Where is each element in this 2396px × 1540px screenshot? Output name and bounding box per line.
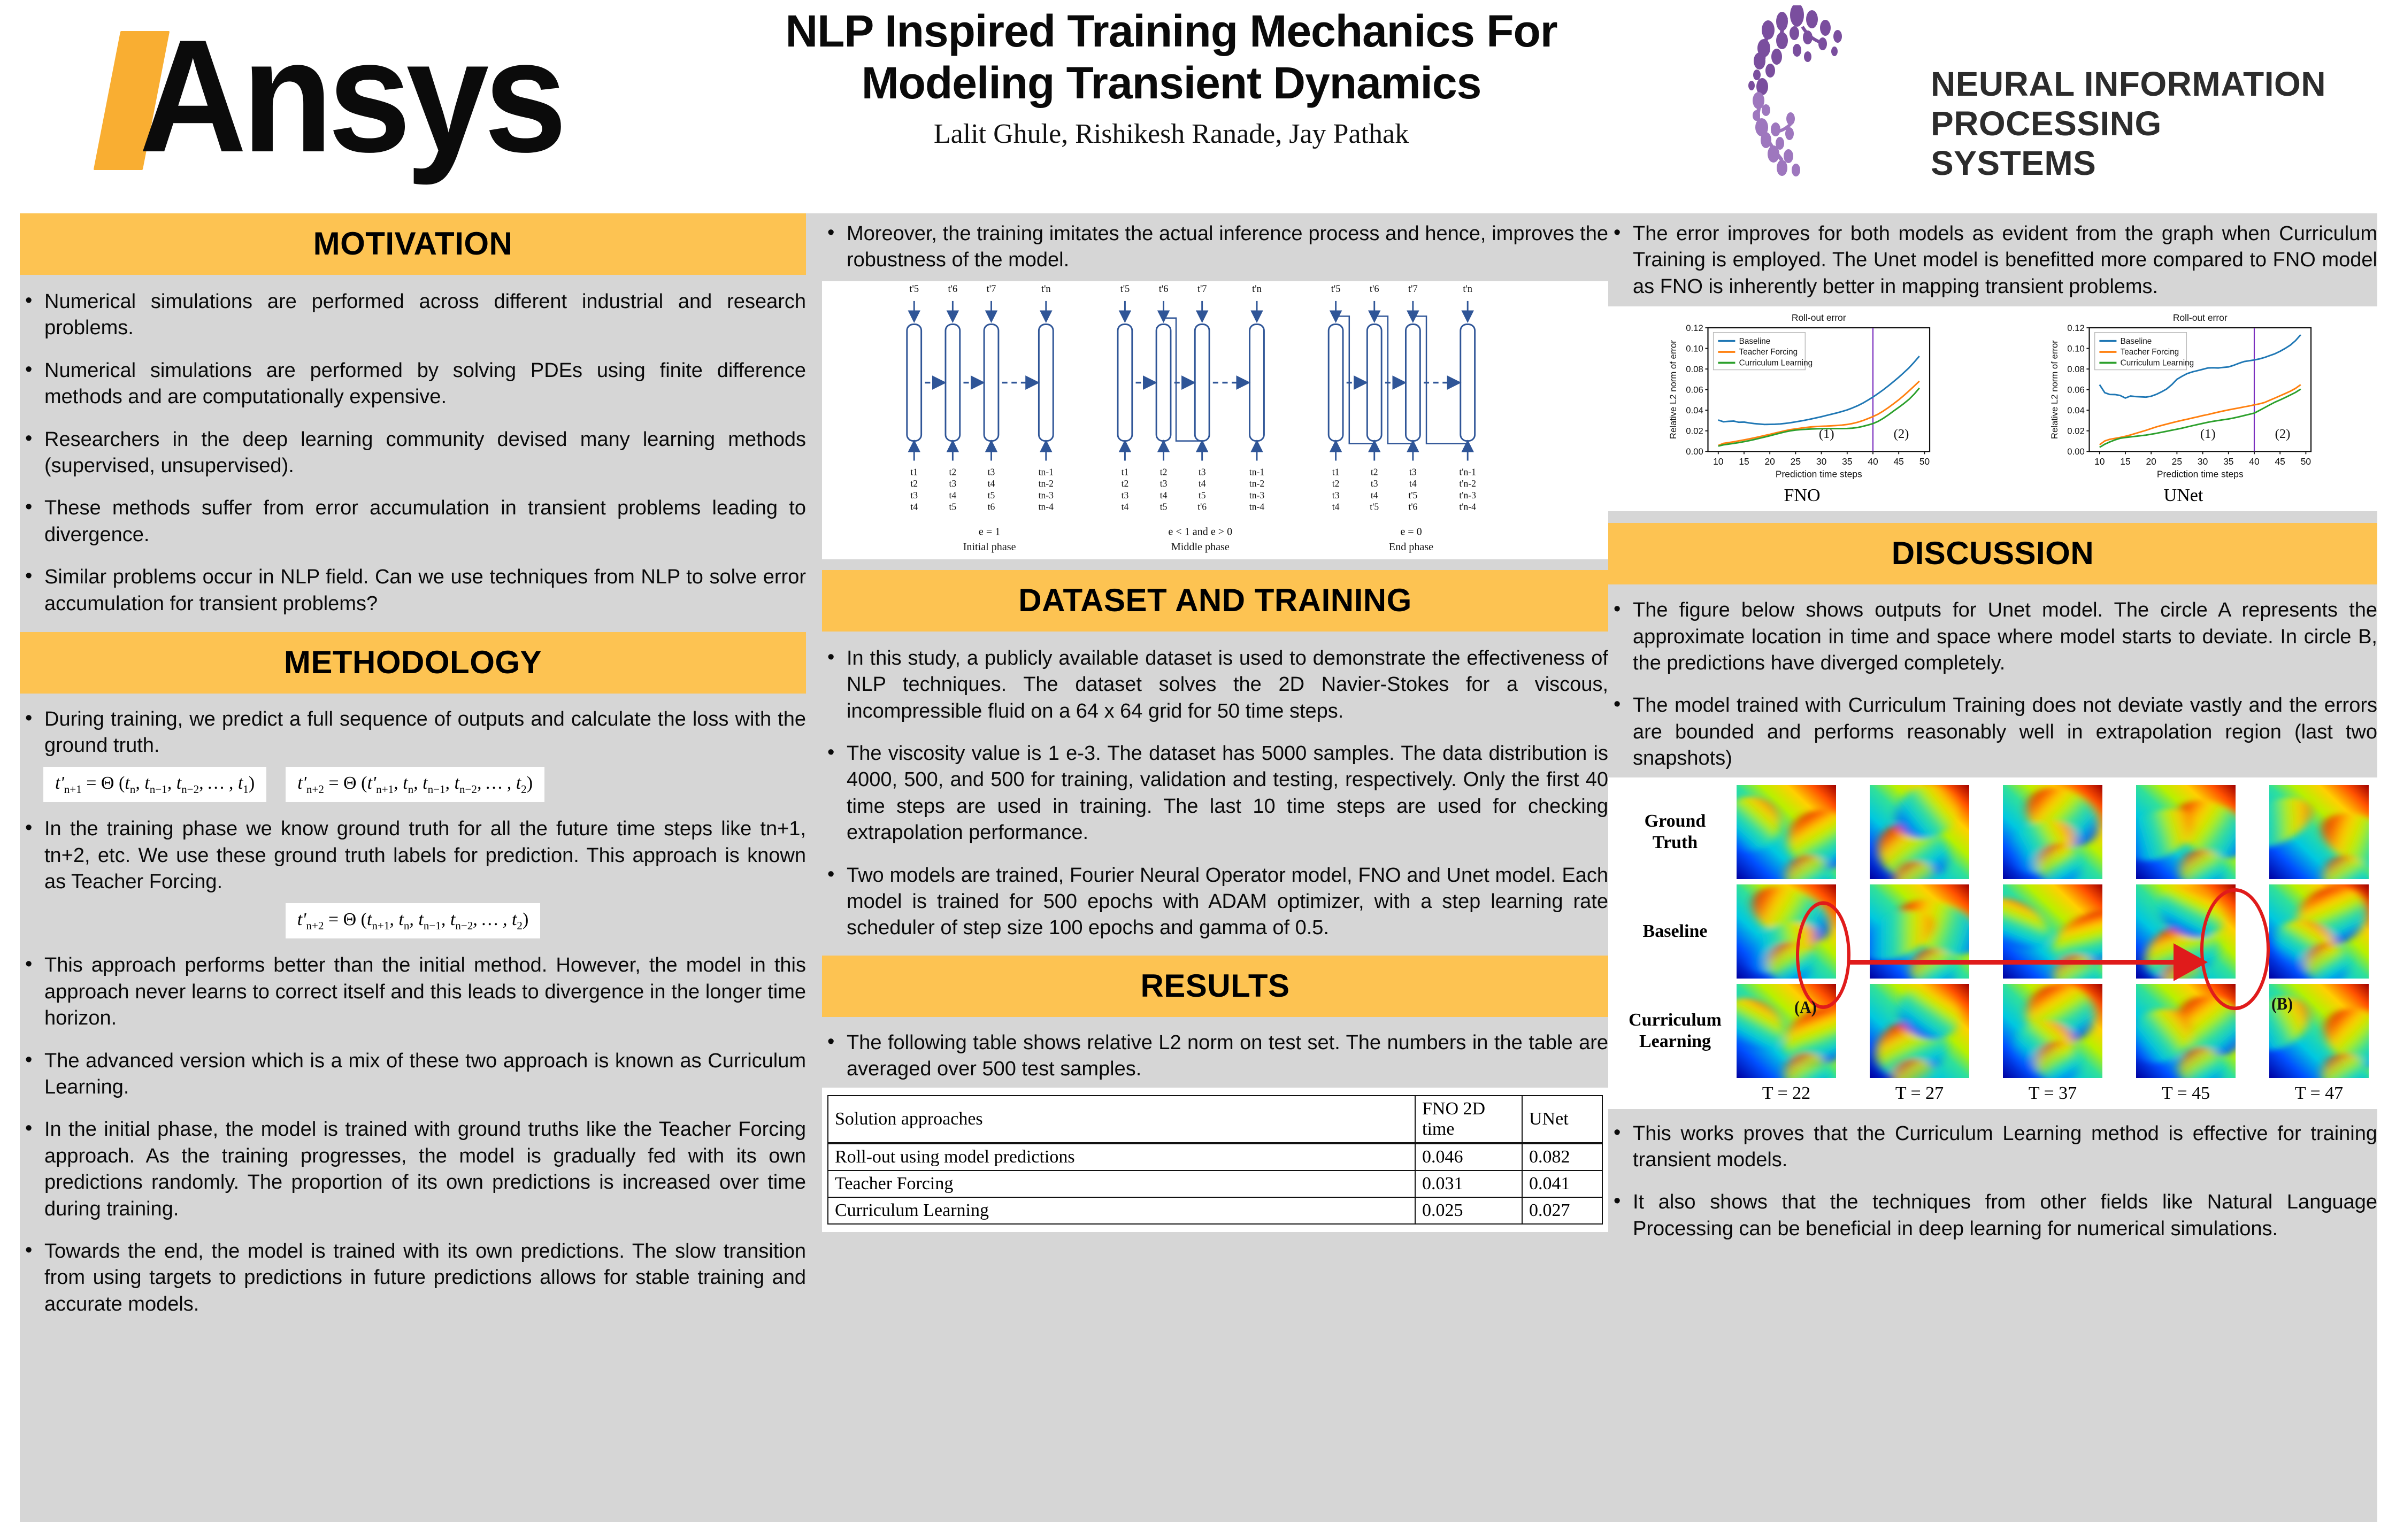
- svg-text:t3: t3: [988, 466, 995, 477]
- svg-text:0.02: 0.02: [1686, 426, 1703, 436]
- poster-title-line1: NLP Inspired Training Mechanics For: [690, 5, 1653, 57]
- svg-text:(1): (1): [1819, 427, 1834, 441]
- svg-text:Relative L2 norm of error: Relative L2 norm of error: [1668, 340, 1678, 439]
- poster-authors: Lalit Ghule, Rishikesh Ranade, Jay Patha…: [690, 118, 1653, 150]
- svg-text:Curriculum Learning: Curriculum Learning: [2121, 359, 2194, 368]
- methodology-bullet-list-rest: This approach performs better than the i…: [20, 952, 806, 1318]
- svg-text:0.10: 0.10: [1686, 344, 1703, 354]
- svg-text:40: 40: [1868, 456, 1878, 467]
- table-header-cell: UNet: [1522, 1096, 1602, 1143]
- diagram-svg: t'5t1t2t3t4t'6t2t3t4t5t'7t3t4t5t6t'ntn-1…: [822, 281, 1608, 559]
- svg-text:End phase: End phase: [1389, 541, 1433, 553]
- table-cell-fno: 0.046: [1415, 1143, 1522, 1171]
- svg-text:t'n: t'n: [1463, 283, 1472, 294]
- svg-text:t'5: t'5: [909, 283, 919, 294]
- table-cell-fno: 0.025: [1415, 1197, 1522, 1224]
- svg-text:e < 1 and e > 0: e < 1 and e > 0: [1168, 526, 1232, 537]
- list-item: Numerical simulations are performed acro…: [20, 289, 806, 342]
- svg-text:t4: t4: [1409, 478, 1417, 489]
- svg-text:35: 35: [2223, 456, 2233, 467]
- svg-text:Relative L2 norm of error: Relative L2 norm of error: [2049, 340, 2060, 439]
- svg-text:tn-4: tn-4: [1039, 502, 1054, 512]
- svg-text:t5: t5: [949, 502, 957, 512]
- svg-text:(2): (2): [1894, 427, 1909, 441]
- snapshot-col-label: T = 45: [2136, 1083, 2236, 1104]
- table-cell-unet: 0.041: [1522, 1171, 1602, 1197]
- svg-text:t'6: t'6: [1197, 502, 1207, 512]
- column-middle: Moreover, the training imitates the actu…: [822, 213, 1608, 1232]
- svg-text:t4: t4: [1371, 490, 1378, 500]
- list-item: The model trained with Curriculum Traini…: [1608, 692, 2377, 772]
- svg-text:t3: t3: [1160, 478, 1168, 489]
- svg-text:10: 10: [1713, 456, 1724, 467]
- snapshot-cell: [2269, 884, 2369, 979]
- snapshot-row-label: CurriculumLearning: [1614, 1010, 1737, 1051]
- svg-text:t2: t2: [1122, 478, 1129, 489]
- svg-text:Baseline: Baseline: [2121, 337, 2152, 346]
- chart-unet-caption: UNet: [1993, 486, 2374, 506]
- snapshot-cell: [1870, 785, 1969, 879]
- svg-text:0.08: 0.08: [1686, 364, 1703, 374]
- snapshot-col-label: T = 22: [1737, 1083, 1836, 1104]
- snapshot-cell: [1737, 884, 1836, 979]
- snapshot-row: Baseline: [1614, 884, 2369, 979]
- svg-text:t1: t1: [1122, 466, 1129, 477]
- svg-text:t4: t4: [1332, 502, 1340, 512]
- svg-text:t'5: t'5: [1120, 283, 1130, 294]
- list-item: During training, we predict a full seque…: [20, 706, 806, 759]
- table-cell-unet: 0.082: [1522, 1143, 1602, 1171]
- table-cell-approach: Teacher Forcing: [828, 1171, 1415, 1197]
- svg-text:t5: t5: [988, 490, 995, 500]
- list-item: This approach performs better than the i…: [20, 952, 806, 1031]
- section-header-results: RESULTS: [822, 956, 1608, 1017]
- results-table-container: Solution approachesFNO 2D timeUNetRoll-o…: [822, 1088, 1608, 1232]
- snapshot-cell: [2269, 785, 2369, 879]
- svg-text:0.02: 0.02: [2067, 426, 2085, 436]
- chart-fno-svg: Roll-out error1015202530354045500.000.02…: [1611, 311, 1993, 482]
- svg-text:t'7: t'7: [1197, 283, 1207, 294]
- snapshot-cell: [1737, 785, 1836, 879]
- svg-text:15: 15: [2120, 456, 2130, 467]
- list-item: Two models are trained, Fourier Neural O…: [822, 863, 1608, 942]
- methodology-formula-row-1: t'n+1 = Θ (tn, tn−1, tn−2, … , t1) t'n+2…: [43, 767, 806, 803]
- list-item: This works proves that the Curriculum Le…: [1608, 1121, 2377, 1174]
- svg-text:0.06: 0.06: [1686, 385, 1703, 395]
- svg-text:0.10: 0.10: [2067, 344, 2085, 354]
- svg-text:(2): (2): [2275, 427, 2291, 441]
- svg-text:tn-1: tn-1: [1039, 466, 1054, 477]
- svg-text:30: 30: [1816, 456, 1827, 467]
- table-row: Teacher Forcing0.0310.041: [828, 1171, 1602, 1197]
- table-cell-unet: 0.027: [1522, 1197, 1602, 1224]
- svg-text:t'6: t'6: [948, 283, 958, 294]
- list-item: The following table shows relative L2 no…: [822, 1030, 1608, 1083]
- ansys-logo: Ansys: [86, 21, 578, 176]
- svg-text:t'7: t'7: [1408, 283, 1418, 294]
- svg-text:t4: t4: [1199, 478, 1206, 489]
- rollout-error-charts: Roll-out error1015202530354045500.000.02…: [1608, 306, 2377, 511]
- neurips-logo-text: NEURAL INFORMATION PROCESSING SYSTEMS: [1931, 64, 2332, 183]
- svg-text:t3: t3: [1332, 490, 1340, 500]
- svg-text:40: 40: [2249, 456, 2260, 467]
- section-header-dataset: DATASET AND TRAINING: [822, 570, 1608, 632]
- svg-text:20: 20: [1764, 456, 1775, 467]
- svg-text:e = 1: e = 1: [979, 526, 1000, 537]
- chart-unet-svg: Roll-out error1015202530354045500.000.02…: [1993, 311, 2374, 482]
- svg-text:tn-2: tn-2: [1249, 478, 1264, 489]
- svg-text:tn-3: tn-3: [1249, 490, 1265, 500]
- svg-text:t3: t3: [949, 478, 957, 489]
- svg-text:tn-2: tn-2: [1039, 478, 1054, 489]
- svg-text:t1: t1: [910, 466, 918, 477]
- conclusion-bullet-list: This works proves that the Curriculum Le…: [1608, 1121, 2377, 1243]
- snapshot-cell: [2136, 884, 2236, 979]
- svg-text:0.00: 0.00: [1686, 446, 1703, 457]
- svg-text:t'n-4: t'n-4: [1459, 502, 1476, 512]
- svg-text:(1): (1): [2200, 427, 2216, 441]
- svg-text:0.00: 0.00: [2067, 446, 2085, 457]
- svg-text:t3: t3: [1409, 466, 1417, 477]
- formula-next-step-2: t'n+2 = Θ (t'n+1, tn, tn−1, tn−2, … , t2…: [286, 767, 544, 803]
- snapshot-cell: [2003, 984, 2102, 1078]
- svg-text:t'n: t'n: [1041, 283, 1051, 294]
- list-item: The viscosity value is 1 e-3. The datase…: [822, 741, 1608, 846]
- svg-text:Teacher Forcing: Teacher Forcing: [1739, 348, 1798, 357]
- chart-fno: Roll-out error1015202530354045500.000.02…: [1611, 311, 1993, 506]
- list-item: In this study, a publicly available data…: [822, 645, 1608, 725]
- table-row: Roll-out using model predictions0.0460.0…: [828, 1143, 1602, 1171]
- svg-text:Initial phase: Initial phase: [963, 541, 1016, 553]
- table-header-cell: Solution approaches: [828, 1096, 1415, 1143]
- list-item: These methods suffer from error accumula…: [20, 495, 806, 548]
- snapshot-col-label: T = 27: [1870, 1083, 1969, 1104]
- svg-text:t2: t2: [949, 466, 957, 477]
- curriculum-training-diagram: t'5t1t2t3t4t'6t2t3t4t5t'7t3t4t5t6t'ntn-1…: [822, 281, 1608, 559]
- poster-header: Ansys NLP Inspired Training Mechanics Fo…: [0, 0, 2396, 214]
- svg-text:t3: t3: [1371, 478, 1378, 489]
- section-header-motivation: MOTIVATION: [20, 213, 806, 275]
- svg-text:t'n: t'n: [1252, 283, 1262, 294]
- list-item: The error improves for both models as ev…: [1608, 221, 2377, 300]
- chart-fno-caption: FNO: [1611, 486, 1993, 506]
- formula-next-step: t'n+1 = Θ (tn, tn−1, tn−2, … , t1): [43, 767, 266, 803]
- svg-text:Prediction time steps: Prediction time steps: [1776, 468, 1862, 479]
- svg-text:t'5: t'5: [1331, 283, 1341, 294]
- svg-text:t'n-2: t'n-2: [1459, 478, 1476, 489]
- title-block: NLP Inspired Training Mechanics For Mode…: [690, 5, 1653, 150]
- svg-text:t4: t4: [1160, 490, 1168, 500]
- svg-text:t3: t3: [1122, 490, 1129, 500]
- list-item: It also shows that the techniques from o…: [1608, 1189, 2377, 1242]
- svg-text:0.04: 0.04: [2067, 405, 2085, 415]
- results-table: Solution approachesFNO 2D timeUNetRoll-o…: [827, 1095, 1603, 1225]
- svg-text:45: 45: [2275, 456, 2285, 467]
- svg-text:t'5: t'5: [1408, 490, 1417, 500]
- results-bullet-list: The following table shows relative L2 no…: [822, 1030, 1608, 1083]
- snapshot-col-label: T = 47: [2269, 1083, 2369, 1104]
- formula-teacher-forcing: t'n+2 = Θ (tn+1, tn, tn−1, tn−2, … , t2): [286, 903, 541, 939]
- svg-text:t'5: t'5: [1370, 502, 1379, 512]
- neurips-line1: NEURAL INFORMATION: [1931, 64, 2332, 104]
- svg-text:e = 0: e = 0: [1400, 526, 1422, 537]
- list-item: Researchers in the deep learning communi…: [20, 427, 806, 480]
- svg-text:t5: t5: [1160, 502, 1168, 512]
- list-item: Towards the end, the model is trained wi…: [20, 1238, 806, 1318]
- snapshot-cell: [1737, 984, 1836, 1078]
- svg-text:45: 45: [1893, 456, 1903, 467]
- table-cell-approach: Curriculum Learning: [828, 1197, 1415, 1224]
- list-item: The figure below shows outputs for Unet …: [1608, 597, 2377, 676]
- section-header-discussion: DISCUSSION: [1608, 523, 2377, 584]
- right-top-bullet-list: The error improves for both models as ev…: [1608, 221, 2377, 300]
- snapshot-cell: [2269, 984, 2369, 1078]
- snapshot-col-label: T = 37: [2003, 1083, 2102, 1104]
- svg-text:Roll-out error: Roll-out error: [2173, 312, 2228, 323]
- table-header-cell: FNO 2D time: [1415, 1096, 1522, 1143]
- list-item: The advanced version which is a mix of t…: [20, 1048, 806, 1101]
- dataset-bullet-list: In this study, a publicly available data…: [822, 645, 1608, 942]
- svg-text:25: 25: [2172, 456, 2182, 467]
- svg-text:35: 35: [1842, 456, 1852, 467]
- poster-root: Ansys NLP Inspired Training Mechanics Fo…: [0, 0, 2396, 1540]
- svg-text:15: 15: [1739, 456, 1749, 467]
- svg-text:Teacher Forcing: Teacher Forcing: [2121, 348, 2179, 357]
- svg-text:Prediction time steps: Prediction time steps: [2157, 468, 2244, 479]
- svg-text:0.08: 0.08: [2067, 364, 2085, 374]
- svg-text:t'6: t'6: [1159, 283, 1169, 294]
- svg-text:Roll-out error: Roll-out error: [1792, 312, 1846, 323]
- snapshot-cell: [2003, 884, 2102, 979]
- section-header-methodology: METHODOLOGY: [20, 632, 806, 694]
- snapshot-cell: [1870, 884, 1969, 979]
- chart-unet: Roll-out error1015202530354045500.000.02…: [1993, 311, 2374, 506]
- discussion-bullet-list: The figure below shows outputs for Unet …: [1608, 597, 2377, 772]
- svg-text:20: 20: [2146, 456, 2156, 467]
- list-item: In the training phase we know ground tru…: [20, 816, 806, 895]
- svg-text:30: 30: [2198, 456, 2208, 467]
- list-item: Numerical simulations are performed by s…: [20, 358, 806, 411]
- svg-text:t'n-1: t'n-1: [1459, 466, 1476, 477]
- table-header-row: Solution approachesFNO 2D timeUNet: [828, 1096, 1602, 1143]
- svg-text:t2: t2: [1371, 466, 1378, 477]
- middle-top-bullet-list: Moreover, the training imitates the actu…: [822, 221, 1608, 274]
- snapshot-cell: [1870, 984, 1969, 1078]
- svg-text:t4: t4: [988, 478, 995, 489]
- svg-text:t3: t3: [910, 490, 918, 500]
- table-cell-fno: 0.031: [1415, 1171, 1522, 1197]
- svg-text:t6: t6: [988, 502, 995, 512]
- snapshot-cell: [2136, 984, 2236, 1078]
- snapshot-row: CurriculumLearning: [1614, 984, 2369, 1078]
- svg-text:50: 50: [2301, 456, 2311, 467]
- svg-text:tn-3: tn-3: [1039, 490, 1054, 500]
- svg-text:t4: t4: [910, 502, 918, 512]
- poster-title-line2: Modeling Transient Dynamics: [690, 57, 1653, 109]
- svg-text:tn-4: tn-4: [1249, 502, 1265, 512]
- svg-text:0.04: 0.04: [1686, 405, 1703, 415]
- svg-text:0.12: 0.12: [1686, 323, 1703, 333]
- svg-text:t5: t5: [1199, 490, 1206, 500]
- table-row: Curriculum Learning0.0250.027: [828, 1197, 1602, 1224]
- list-item: Moreover, the training imitates the actu…: [822, 221, 1608, 274]
- svg-text:t2: t2: [910, 478, 918, 489]
- svg-text:Baseline: Baseline: [1739, 337, 1771, 346]
- ansys-logo-text: Ansys: [139, 3, 562, 188]
- methodology-bullet-2: In the training phase we know ground tru…: [20, 816, 806, 895]
- svg-text:t4: t4: [1122, 502, 1129, 512]
- column-right: The error improves for both models as ev…: [1608, 213, 2377, 1242]
- list-item: Similar problems occur in NLP field. Can…: [20, 564, 806, 617]
- svg-text:t'7: t'7: [987, 283, 996, 294]
- svg-text:50: 50: [1919, 456, 1930, 467]
- neurips-line2: PROCESSING SYSTEMS: [1931, 104, 2332, 183]
- methodology-bullet-1: During training, we predict a full seque…: [20, 706, 806, 759]
- svg-text:t'n-3: t'n-3: [1459, 490, 1476, 500]
- snapshot-cell: [2136, 785, 2236, 879]
- methodology-formula-row-2: t'n+2 = Θ (tn+1, tn, tn−1, tn−2, … , t2): [20, 903, 806, 939]
- svg-text:t'6: t'6: [1370, 283, 1379, 294]
- neurips-swirl-icon: [1733, 5, 1931, 182]
- svg-text:25: 25: [1791, 456, 1801, 467]
- svg-text:t1: t1: [1332, 466, 1340, 477]
- snapshot-cell: [2003, 785, 2102, 879]
- svg-text:t'6: t'6: [1408, 502, 1417, 512]
- svg-text:tn-1: tn-1: [1249, 466, 1264, 477]
- snapshot-column-labels: T = 22T = 27T = 37T = 45T = 47: [1614, 1083, 2369, 1104]
- svg-text:0.12: 0.12: [2067, 323, 2085, 333]
- motivation-bullet-list: Numerical simulations are performed acro…: [20, 289, 806, 617]
- svg-text:Middle phase: Middle phase: [1171, 541, 1230, 553]
- snapshot-row-label: Baseline: [1614, 921, 1737, 942]
- neurips-logo: NEURAL INFORMATION PROCESSING SYSTEMS: [1733, 5, 2332, 182]
- svg-text:Curriculum Learning: Curriculum Learning: [1739, 359, 1813, 368]
- snapshot-row: GroundTruth: [1614, 785, 2369, 879]
- table-cell-approach: Roll-out using model predictions: [828, 1143, 1415, 1171]
- snapshot-row-label: GroundTruth: [1614, 811, 1737, 852]
- unet-snapshot-grid: GroundTruthBaselineCurriculumLearning T …: [1608, 777, 2377, 1109]
- svg-text:10: 10: [2094, 456, 2105, 467]
- svg-text:t3: t3: [1199, 466, 1206, 477]
- svg-text:t2: t2: [1160, 466, 1168, 477]
- svg-text:t2: t2: [1332, 478, 1340, 489]
- list-item: In the initial phase, the model is train…: [20, 1116, 806, 1222]
- svg-text:0.06: 0.06: [2067, 385, 2085, 395]
- column-left: MOTIVATION Numerical simulations are per…: [20, 213, 806, 1318]
- svg-text:t4: t4: [949, 490, 957, 500]
